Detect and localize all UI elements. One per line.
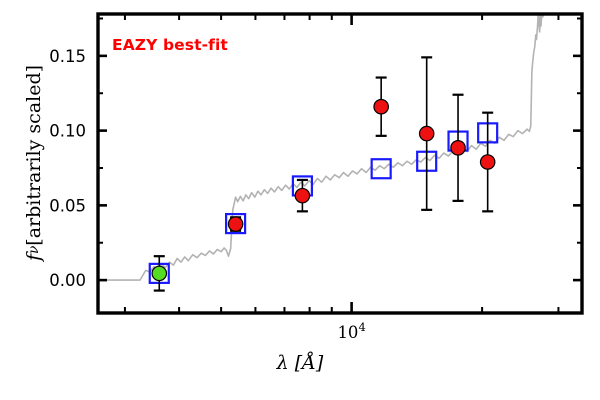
y-axis-label: fν [arbitrarily scaled] [19, 33, 49, 293]
y-tick-label: 0.15 [49, 47, 86, 66]
photometry-markers [152, 99, 495, 280]
data-point-marker [152, 266, 166, 280]
x-axis-label-unit: Å [302, 352, 316, 374]
x-axis-label-prefix: λ [ [277, 352, 303, 374]
x-tick-label: 104 [337, 320, 365, 342]
axes-frame [98, 14, 582, 313]
y-axis-label-symbol: f [23, 254, 45, 261]
y-tick-label: 0.00 [49, 271, 86, 290]
y-axis-label-rest: [arbitrarily scaled] [23, 65, 45, 246]
data-point-marker [228, 217, 242, 231]
x-axis-label-suffix: ] [316, 352, 323, 374]
data-point-marker [419, 126, 433, 140]
sed-plot: 0.000.050.100.15104 [0, 0, 600, 400]
y-axis-label-subscript: ν [26, 246, 42, 254]
data-point-marker [374, 99, 388, 113]
y-tick-label: 0.10 [49, 122, 86, 141]
data-point-marker [295, 188, 309, 202]
data-point-marker [480, 155, 494, 169]
figure-canvas: 0.000.050.100.15104 EAZY best-fit fν [ar… [0, 0, 600, 400]
eazy-bestfit-annotation-text: EAZY best-fit [112, 36, 228, 54]
eazy-bestfit-annotation: EAZY best-fit [112, 36, 228, 54]
plot-border [98, 14, 582, 313]
model-photometry-markers [150, 123, 497, 283]
y-tick-label: 0.05 [49, 196, 86, 215]
data-point-marker [451, 141, 465, 155]
x-axis-label: λ [Å] [0, 352, 600, 374]
model-square-marker [372, 159, 391, 178]
